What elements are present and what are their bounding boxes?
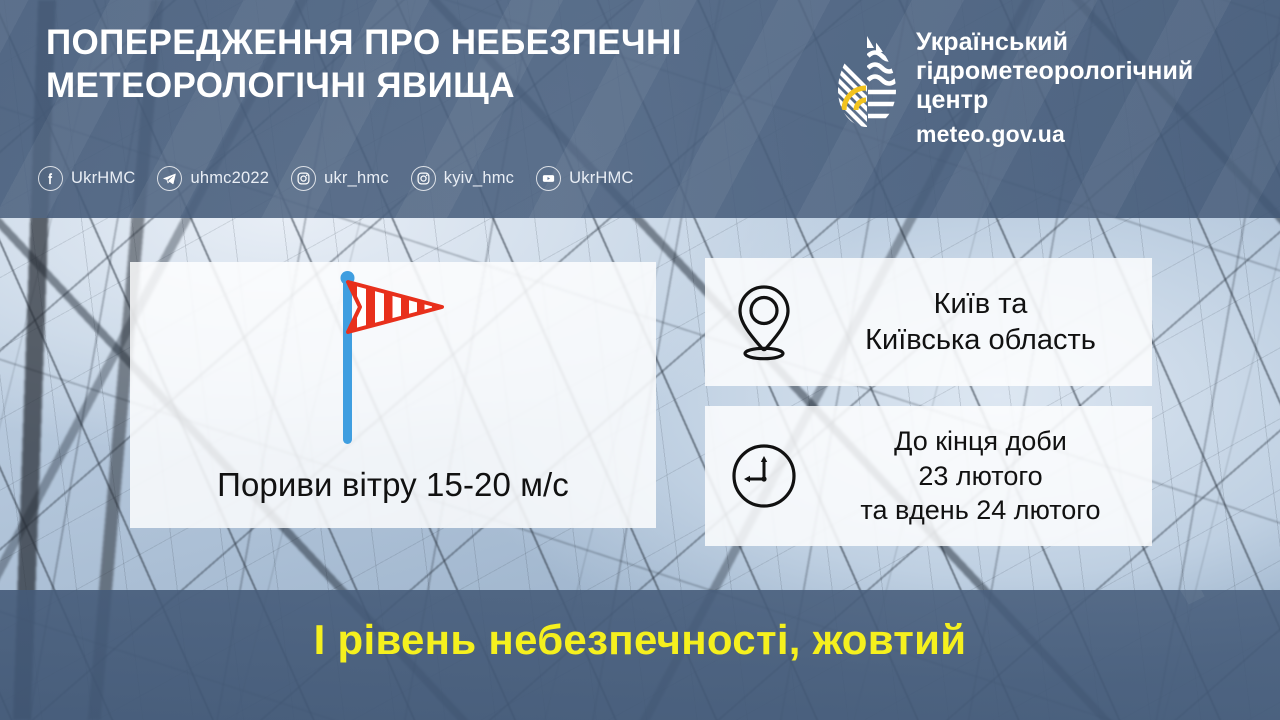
location-line-1: Київ та [823,286,1138,322]
social-links: UkrHMC uhmc2022 [38,166,656,191]
page-title: ПОПЕРЕДЖЕННЯ ПРО НЕБЕЗПЕЧНІ МЕТЕОРОЛОГІЧ… [46,22,806,107]
time-line-1: До кінця доби [823,424,1138,459]
social-link-youtube[interactable]: UkrHMC [536,166,633,191]
social-link-instagram-ukr[interactable]: ukr_hmc [291,166,389,191]
organization-website[interactable]: meteo.gov.ua [916,121,1193,148]
location-card: Київ та Київська область [705,258,1152,386]
page-title-line-1: ПОПЕРЕДЖЕННЯ ПРО НЕБЕЗПЕЧНІ [46,22,806,65]
organization-name: Український гідрометеорологічний центр [916,28,1193,115]
header-band: ПОПЕРЕДЖЕННЯ ПРО НЕБЕЗПЕЧНІ МЕТЕОРОЛОГІЧ… [0,0,1280,218]
social-handle-instagram-ukr: ukr_hmc [324,169,389,188]
social-handle-instagram-kyiv: kyiv_hmc [444,169,514,188]
wind-warning-card: Пориви вітру 15-20 м/с [130,262,656,528]
wind-pennant-icon [318,260,468,460]
organization-name-line-1: Український [916,28,1193,57]
instagram-icon [411,166,436,191]
social-handle-facebook: UkrHMC [71,169,135,188]
time-line-2: 23 лютого [823,459,1138,494]
social-link-instagram-kyiv[interactable]: kyiv_hmc [411,166,514,191]
map-pin-icon [733,283,795,361]
page-title-line-2: МЕТЕОРОЛОГІЧНІ ЯВИЩА [46,65,806,108]
organization-name-line-2: гідрометеорологічний [916,57,1193,86]
youtube-icon [536,166,561,191]
facebook-icon [38,166,63,191]
location-text: Київ та Київська область [823,286,1152,359]
wind-warning-label: Пориви вітру 15-20 м/с [217,466,569,504]
social-link-telegram[interactable]: uhmc2022 [157,166,269,191]
clock-icon [729,441,799,511]
time-line-3: та вдень 24 лютого [823,493,1138,528]
time-text: До кінця доби 23 лютого та вдень 24 люто… [823,424,1152,528]
telegram-icon [157,166,182,191]
organization-logo[interactable]: Український гідрометеорологічний центр m… [836,28,1193,148]
danger-level-text: I рівень небезпечності, жовтий [0,616,1280,664]
infographic-root: ПОПЕРЕДЖЕННЯ ПРО НЕБЕЗПЕЧНІ МЕТЕОРОЛОГІЧ… [0,0,1280,720]
hydromet-leaf-logo-icon [836,32,898,128]
social-handle-telegram: uhmc2022 [190,169,269,188]
organization-name-line-3: центр [916,86,1193,115]
location-line-2: Київська область [823,322,1138,358]
instagram-icon [291,166,316,191]
social-handle-youtube: UkrHMC [569,169,633,188]
social-link-facebook[interactable]: UkrHMC [38,166,135,191]
time-card: До кінця доби 23 лютого та вдень 24 люто… [705,406,1152,546]
